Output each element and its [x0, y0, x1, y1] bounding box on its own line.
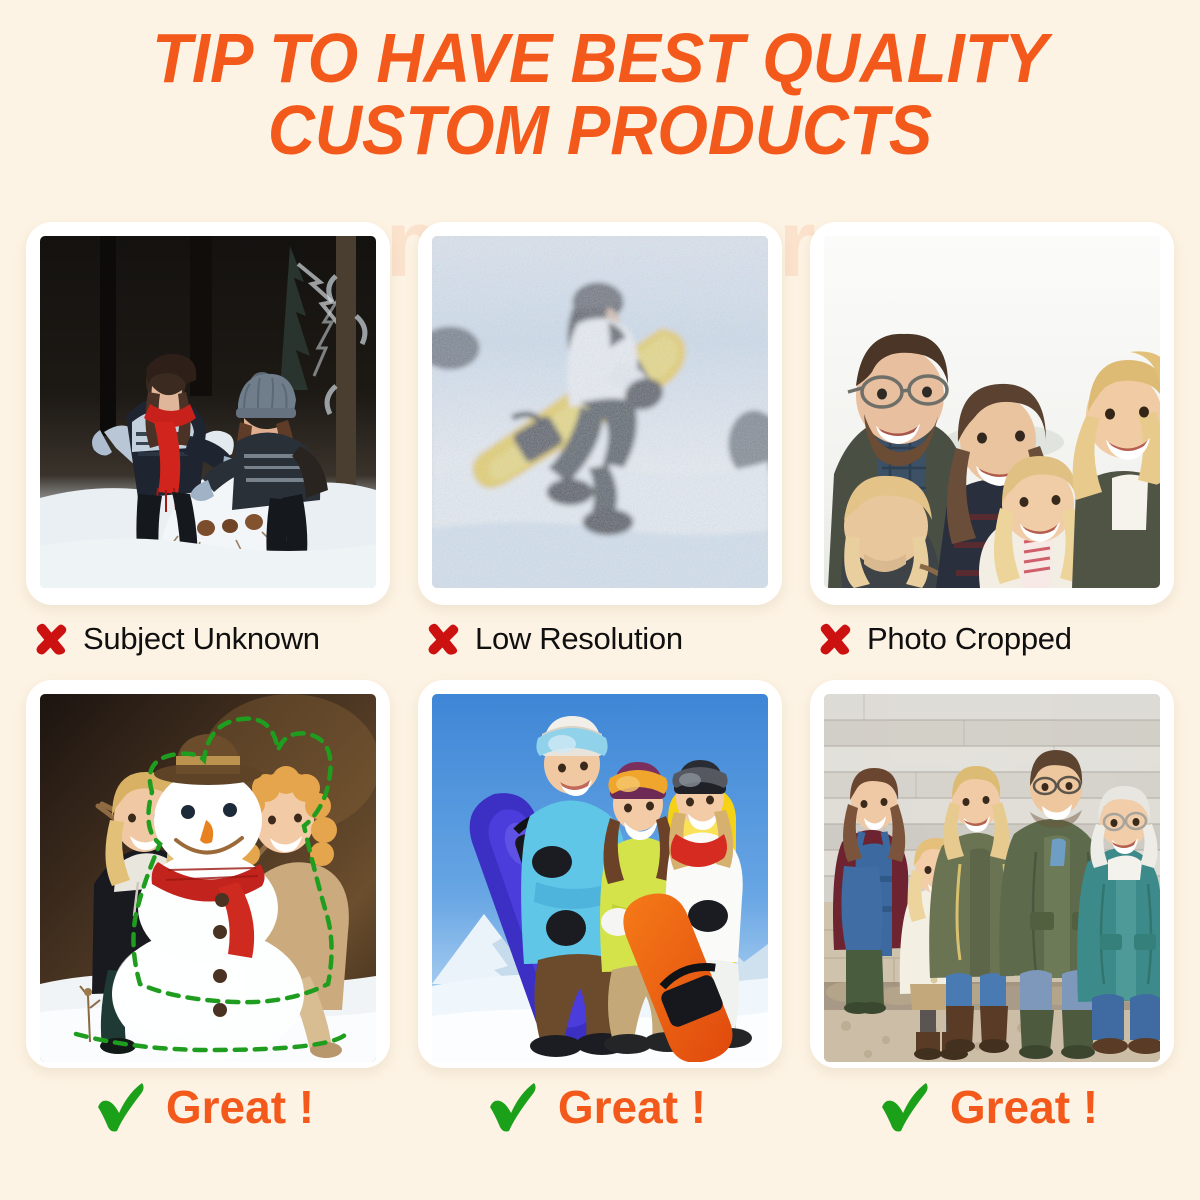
title-line-1: TIP TO HAVE BEST QUALITY — [42, 22, 1158, 94]
example-cell-subject-unknown: Subject Unknown — [26, 222, 390, 657]
example-cell-low-resolution: Low Resolution — [418, 222, 782, 657]
label-text: Great ! — [950, 1080, 1098, 1134]
check-mark-icon — [486, 1079, 542, 1135]
examples-grid: Subject Unknown — [26, 222, 1174, 1162]
photo-subject-unknown — [40, 236, 376, 588]
example-cell-photo-cropped: Photo Cropped — [810, 222, 1174, 657]
photo-card — [26, 680, 390, 1068]
photo-photo-cropped — [824, 236, 1160, 588]
x-mark-icon — [426, 621, 462, 657]
label-text: Low Resolution — [475, 621, 683, 657]
example-cell-great-snowman: Great ! — [26, 680, 390, 1146]
label-great-snowboarders: Great ! — [418, 1068, 782, 1146]
bad-examples-row: Subject Unknown — [26, 222, 1174, 670]
good-examples-row: Great ! — [26, 680, 1174, 1162]
photo-great-family — [824, 694, 1160, 1062]
label-text: Subject Unknown — [83, 621, 320, 657]
infographic-page: TIP TO HAVE BEST QUALITY CUSTOM PRODUCTS… — [0, 0, 1200, 1200]
photo-card — [26, 222, 390, 605]
check-mark-icon — [94, 1079, 150, 1135]
label-great-family: Great ! — [810, 1068, 1174, 1146]
title-line-2: CUSTOM PRODUCTS — [42, 94, 1158, 166]
photo-card — [810, 680, 1174, 1068]
photo-low-resolution — [432, 236, 768, 588]
photo-card — [810, 222, 1174, 605]
label-low-resolution: Low Resolution — [418, 621, 782, 657]
example-cell-great-family: Great ! — [810, 680, 1174, 1146]
label-text: Great ! — [166, 1080, 314, 1134]
label-text: Great ! — [558, 1080, 706, 1134]
photo-card — [418, 680, 782, 1068]
x-mark-icon — [34, 621, 70, 657]
example-cell-great-snowboarders: Great ! — [418, 680, 782, 1146]
photo-great-snowman — [40, 694, 376, 1062]
page-title: TIP TO HAVE BEST QUALITY CUSTOM PRODUCTS — [42, 22, 1158, 166]
label-subject-unknown: Subject Unknown — [26, 621, 390, 657]
label-photo-cropped: Photo Cropped — [810, 621, 1174, 657]
label-great-snowman: Great ! — [26, 1068, 390, 1146]
x-mark-icon — [818, 621, 854, 657]
label-text: Photo Cropped — [867, 621, 1072, 657]
photo-great-snowboarders — [432, 694, 768, 1062]
photo-card — [418, 222, 782, 605]
check-mark-icon — [878, 1079, 934, 1135]
